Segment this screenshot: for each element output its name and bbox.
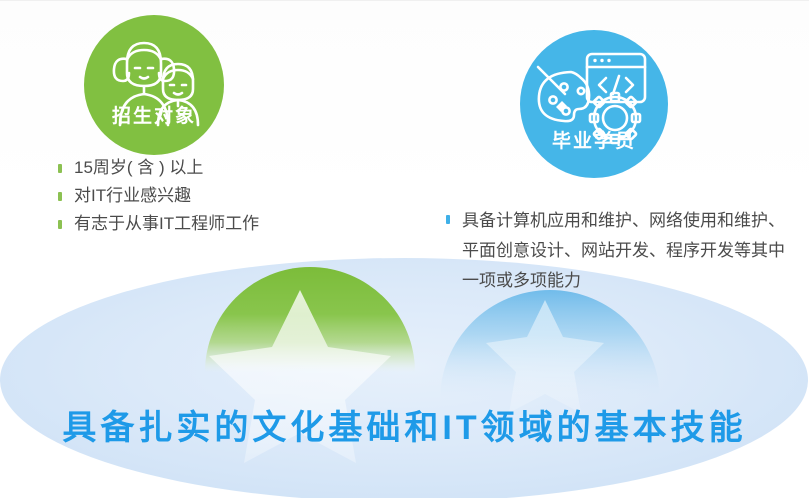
badge-graduate-student[interactable]: 毕业学员 — [520, 30, 668, 178]
badge-admission-target-label: 招生对象 — [84, 101, 224, 128]
design-code-gear-icon — [520, 30, 668, 178]
list-item: 对IT行业感兴趣 — [58, 183, 418, 209]
bullet-marker-icon — [58, 220, 62, 229]
badge-graduate-student-label: 毕业学员 — [520, 126, 668, 153]
bullet-marker-icon — [58, 164, 62, 173]
list-item-text: 对IT行业感兴趣 — [74, 183, 191, 209]
headline-text: 具备扎实的文化基础和IT领域的基本技能 — [0, 400, 809, 449]
list-item-text: 有志于从事IT工程师工作 — [74, 211, 259, 237]
list-item: 具备计算机应用和维护、网络使用和维护、平面创意设计、网站开发、程序开发等其中一项… — [446, 206, 791, 296]
graduate-skills-list: 具备计算机应用和维护、网络使用和维护、平面创意设计、网站开发、程序开发等其中一项… — [446, 206, 791, 298]
green-dome-shape — [205, 267, 415, 372]
star-small — [486, 300, 604, 413]
top-divider — [0, 0, 809, 1]
list-item-text: 15周岁( 含 ) 以上 — [74, 155, 203, 181]
bullet-marker-icon — [58, 192, 62, 201]
poster-canvas: 招生对象 — [0, 0, 809, 498]
badge-admission-target[interactable]: 招生对象 — [84, 15, 224, 155]
admission-requirements-list: 15周岁( 含 ) 以上 对IT行业感兴趣 有志于从事IT工程师工作 — [58, 155, 418, 239]
two-students-icon — [84, 15, 224, 155]
list-item-text: 具备计算机应用和维护、网络使用和维护、平面创意设计、网站开发、程序开发等其中一项… — [462, 206, 791, 296]
list-item: 15周岁( 含 ) 以上 — [58, 155, 418, 181]
bullet-marker-icon — [446, 215, 450, 224]
list-item: 有志于从事IT工程师工作 — [58, 211, 418, 237]
blue-dome-shape — [440, 290, 660, 400]
